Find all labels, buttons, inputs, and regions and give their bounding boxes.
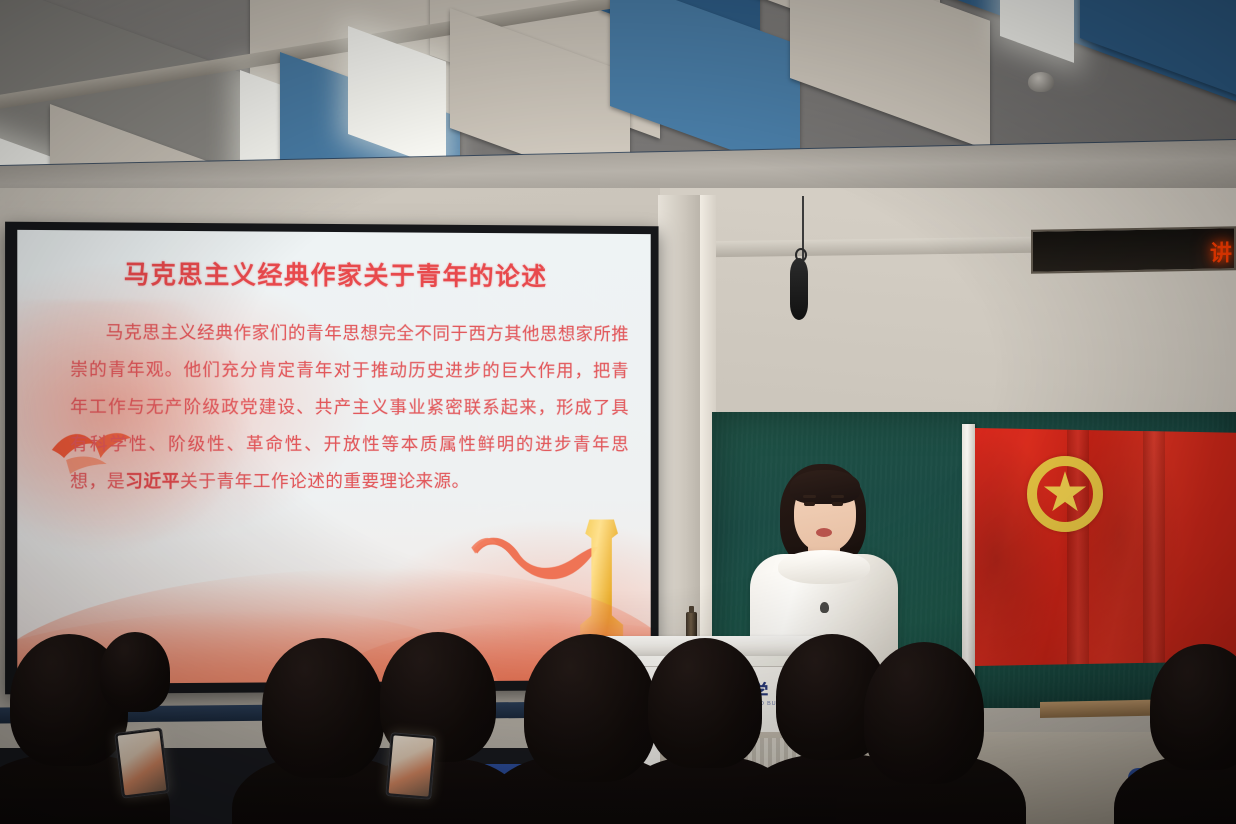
presenter-mouth bbox=[816, 528, 832, 537]
podium-top bbox=[576, 636, 842, 658]
presenter-eye bbox=[804, 502, 815, 506]
presenter-eyebrow bbox=[831, 495, 844, 498]
student-presenter bbox=[744, 462, 904, 662]
slide-title: 马克思主义经典作家关于青年的论述 bbox=[17, 254, 650, 293]
slide-body-highlight: 习近平 bbox=[125, 472, 180, 492]
university-logo-icon bbox=[600, 677, 627, 704]
youth-league-flag bbox=[975, 428, 1236, 666]
side-chair bbox=[870, 676, 966, 800]
presenter-hood bbox=[778, 550, 870, 584]
ceiling-panel-blue bbox=[1080, 0, 1236, 111]
ceiling-panel bbox=[790, 0, 990, 151]
flagpole bbox=[962, 424, 975, 692]
hanging-microphone bbox=[790, 258, 808, 320]
flag-fold bbox=[1143, 428, 1165, 666]
presenter-fringe bbox=[790, 470, 860, 504]
audience-member bbox=[352, 758, 524, 824]
led-sign-text: 讲 bbox=[1210, 235, 1232, 267]
ceiling-light bbox=[1000, 0, 1074, 63]
slide-body-part2: 关于青年工作论述的重要理论来源。 bbox=[180, 472, 470, 492]
star-icon bbox=[1043, 471, 1087, 515]
radiator bbox=[700, 738, 810, 772]
audience-member bbox=[0, 754, 170, 824]
wall-pillar bbox=[658, 195, 702, 675]
slide-body-text: 马克思主义经典作家们的青年思想完全不同于西方其他思想家所推崇的青年观。他们充分肯… bbox=[70, 315, 629, 502]
audience-member bbox=[232, 756, 420, 824]
ceiling: MITSUBISHI bbox=[0, 0, 1236, 205]
presenter-eye bbox=[832, 502, 843, 506]
youth-league-emblem-icon bbox=[1027, 456, 1103, 532]
audience-chair bbox=[466, 764, 590, 824]
security-camera-icon bbox=[1028, 72, 1054, 92]
projection-screen-frame: 马克思主义经典作家关于青年的论述 马克思主义经典作家们的青年思想完全不同于西方其… bbox=[5, 222, 658, 695]
hoodie-logo-icon bbox=[820, 602, 829, 613]
chair-leg bbox=[952, 776, 959, 814]
led-display-sign: 讲 bbox=[1031, 226, 1236, 274]
chair-back bbox=[870, 676, 966, 762]
lecture-hall-scene: MITSUBISHI 讲 马克思主义经典作家关于青年的论述 马克思主义经典作家们… bbox=[0, 0, 1236, 824]
presentation-slide: 马克思主义经典作家关于青年的论述 马克思主义经典作家们的青年思想完全不同于西方其… bbox=[17, 230, 650, 684]
chair-seat bbox=[876, 762, 960, 778]
chair-leg bbox=[876, 776, 883, 814]
slide-body-part1: 马克思主义经典作家们的青年思想完全不同于西方其他思想家所推崇的青年观。他们充分肯… bbox=[70, 323, 629, 493]
presenter-eyebrow bbox=[803, 495, 816, 498]
